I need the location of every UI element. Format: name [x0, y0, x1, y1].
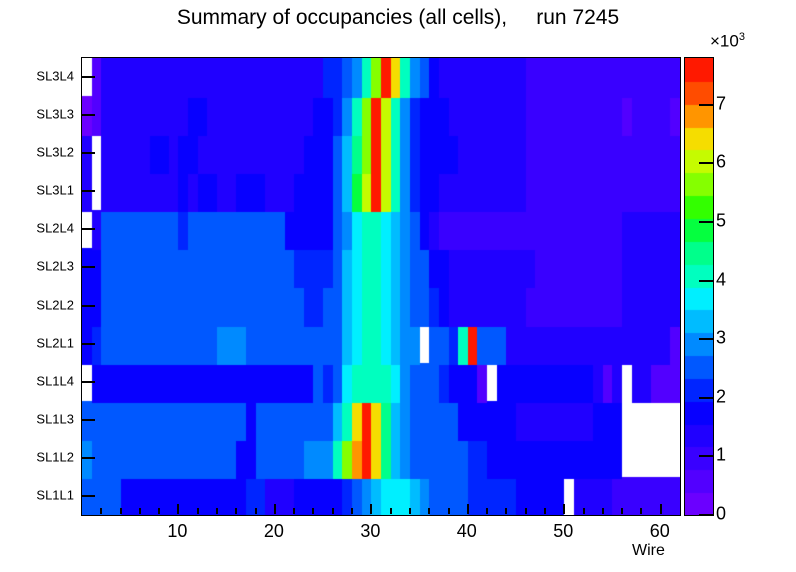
- y-axis-tick: [82, 381, 95, 383]
- x-axis-minor-tick: [158, 508, 160, 514]
- x-axis-minor-tick: [332, 508, 334, 514]
- y-axis-tick: [82, 419, 95, 421]
- x-axis-minor-tick: [216, 508, 218, 514]
- x-axis-major-tick: [660, 504, 662, 514]
- x-axis-minor-tick: [139, 508, 141, 514]
- x-axis-major-tick: [370, 504, 372, 514]
- y-axis-label-sl2l4: SL2L4: [0, 221, 74, 236]
- x-axis-minor-tick: [409, 508, 411, 514]
- colorbar-tick: [699, 397, 713, 399]
- colorbar-tick-label: 6: [716, 152, 726, 173]
- colorbar-tick-label: 2: [716, 386, 726, 407]
- y-axis-tick: [82, 190, 95, 192]
- colorbar-tick-label: 5: [716, 211, 726, 232]
- y-axis-tick: [82, 457, 95, 459]
- colorbar-tick-label: 4: [716, 269, 726, 290]
- colorbar[interactable]: [684, 57, 714, 516]
- x-axis-minor-tick: [544, 508, 546, 514]
- y-axis-tick: [82, 228, 95, 230]
- y-axis-label-sl1l2: SL1L2: [0, 449, 74, 464]
- colorbar-exponent-power: 3: [739, 31, 745, 43]
- x-axis-minor-tick: [255, 508, 257, 514]
- colorbar-gradient: [685, 58, 713, 515]
- root-canvas: Summary of occupancies (all cells), run …: [0, 0, 796, 572]
- colorbar-tick: [699, 455, 713, 457]
- y-axis-label-sl3l3: SL3L3: [0, 107, 74, 122]
- x-axis-major-tick: [467, 504, 469, 514]
- y-axis-label-sl1l1: SL1L1: [0, 487, 74, 502]
- colorbar-exponent-label: ×103: [710, 31, 745, 52]
- x-axis-tick-label: 40: [457, 521, 477, 542]
- colorbar-tick-label: 3: [716, 328, 726, 349]
- y-axis-labels: SL1L1SL1L2SL1L3SL1L4SL2L1SL2L2SL2L3SL2L4…: [0, 57, 74, 514]
- y-axis-label-sl1l3: SL1L3: [0, 411, 74, 426]
- colorbar-tick-label: 0: [716, 504, 726, 525]
- colorbar-tick: [699, 338, 713, 340]
- x-axis-minor-tick: [120, 508, 122, 514]
- x-axis-tick-label: 60: [650, 521, 670, 542]
- x-axis-minor-tick: [428, 508, 430, 514]
- y-axis-tick: [82, 76, 95, 78]
- y-axis-tick: [82, 305, 95, 307]
- x-axis-minor-tick: [525, 508, 527, 514]
- occupancy-heatmap[interactable]: [82, 58, 680, 515]
- y-axis-tick: [82, 495, 95, 497]
- heatmap-plot-frame[interactable]: [81, 57, 681, 516]
- x-axis-tick-label: 50: [553, 521, 573, 542]
- x-axis-major-tick: [563, 504, 565, 514]
- x-axis-minor-tick: [235, 508, 237, 514]
- colorbar-tick-label: 1: [716, 445, 726, 466]
- y-axis-tick: [82, 266, 95, 268]
- x-axis-title: Wire: [632, 542, 665, 560]
- y-axis-tick: [82, 343, 95, 345]
- colorbar-tick: [699, 280, 713, 282]
- x-axis-minor-tick: [448, 508, 450, 514]
- x-axis-minor-tick: [505, 508, 507, 514]
- x-axis-tick-label: 30: [360, 521, 380, 542]
- colorbar-tick-label: 7: [716, 93, 726, 114]
- y-axis-label-sl2l3: SL2L3: [0, 259, 74, 274]
- colorbar-tick: [699, 514, 713, 516]
- x-axis-minor-tick: [390, 508, 392, 514]
- x-axis-minor-tick: [293, 508, 295, 514]
- x-axis-minor-tick: [621, 508, 623, 514]
- x-axis-minor-tick: [640, 508, 642, 514]
- page-title: Summary of occupancies (all cells), run …: [0, 6, 796, 30]
- y-axis-label-sl1l4: SL1L4: [0, 373, 74, 388]
- x-axis-tick-label: 20: [264, 521, 284, 542]
- y-axis-label-sl2l1: SL2L1: [0, 335, 74, 350]
- x-axis-minor-tick: [583, 508, 585, 514]
- x-axis-minor-tick: [312, 508, 314, 514]
- y-axis-label-sl3l4: SL3L4: [0, 69, 74, 84]
- x-axis-major-tick: [177, 504, 179, 514]
- x-axis-minor-tick: [100, 508, 102, 514]
- x-axis-minor-tick: [602, 508, 604, 514]
- colorbar-tick: [699, 221, 713, 223]
- x-axis-minor-tick: [197, 508, 199, 514]
- y-axis-label-sl3l2: SL3L2: [0, 145, 74, 160]
- x-axis-tick-label: 10: [167, 521, 187, 542]
- colorbar-tick: [699, 162, 713, 164]
- x-axis-minor-tick: [486, 508, 488, 514]
- x-axis-minor-tick: [351, 508, 353, 514]
- x-axis-major-tick: [274, 504, 276, 514]
- y-axis-tick: [82, 152, 95, 154]
- y-axis-label-sl3l1: SL3L1: [0, 183, 74, 198]
- colorbar-tick: [699, 104, 713, 106]
- y-axis-label-sl2l2: SL2L2: [0, 297, 74, 312]
- y-axis-tick: [82, 114, 95, 116]
